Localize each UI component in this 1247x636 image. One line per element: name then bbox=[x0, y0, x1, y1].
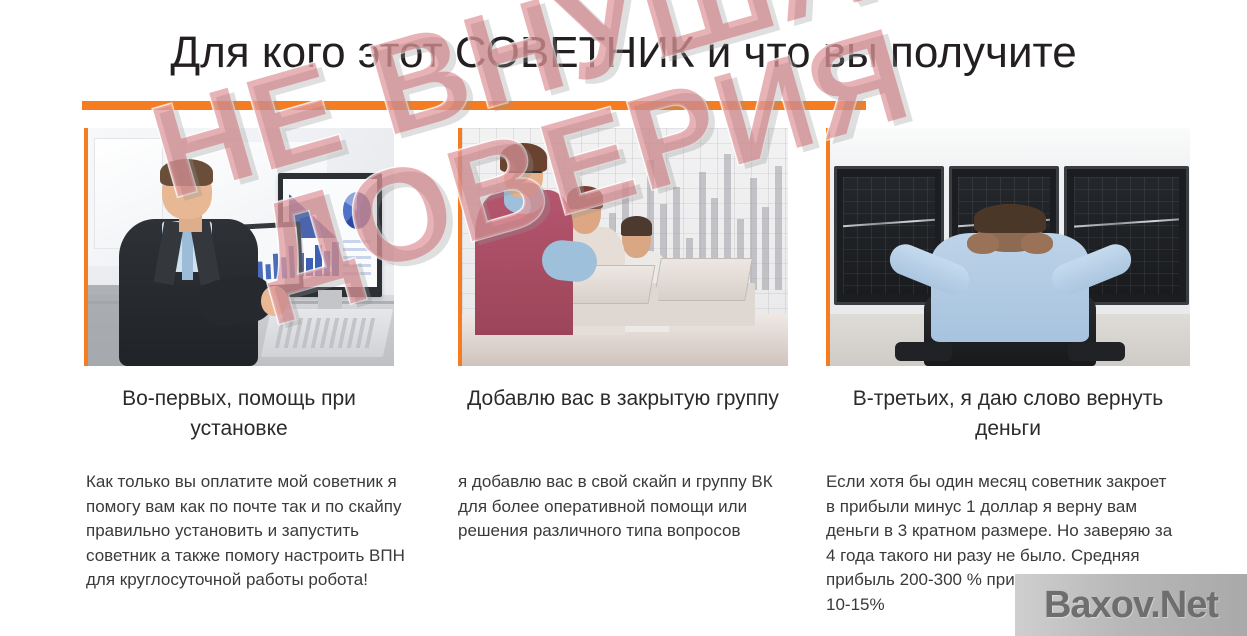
feature-caption-3: В-третьих, я даю слово вернуть деньги bbox=[826, 384, 1190, 444]
feature-body-2: я добавлю вас в свой скайп и группу ВК д… bbox=[458, 470, 802, 544]
orange-accent-bar-3 bbox=[826, 128, 830, 366]
orange-accent-bar-1 bbox=[84, 128, 88, 366]
photo-canvas-2 bbox=[462, 128, 788, 366]
orange-accent-bar-2 bbox=[458, 128, 462, 366]
feature-caption-1: Во-первых, помощь при установке bbox=[84, 384, 394, 444]
feature-column-2: Добавлю вас в закрытую группу bbox=[458, 128, 818, 414]
feature-column-3: В-третьих, я даю слово вернуть деньги bbox=[826, 128, 1190, 444]
glasses-icon bbox=[508, 171, 541, 182]
feature-caption-2: Добавлю вас в закрытую группу bbox=[458, 384, 788, 414]
title-underline-rule bbox=[82, 101, 866, 110]
photo-canvas-1 bbox=[88, 128, 394, 366]
person-figure bbox=[112, 157, 277, 366]
photo-canvas-3 bbox=[830, 128, 1190, 366]
feature-image-3 bbox=[826, 128, 1190, 366]
laptop-icon-far bbox=[651, 283, 755, 326]
page-title: Для кого этот СОВЕТНИК и что вы получите bbox=[0, 26, 1247, 80]
feature-column-1: Во-первых, помощь при установке bbox=[84, 128, 448, 444]
site-logo: Baxov.Net bbox=[1015, 574, 1247, 636]
person-figure-front bbox=[475, 147, 573, 328]
laptop-icon-near bbox=[560, 287, 658, 325]
site-logo-text: Baxov.Net bbox=[1044, 584, 1218, 627]
feature-body-1: Как только вы оплатите мой советник я по… bbox=[86, 470, 432, 593]
slide-root: Для кого этот СОВЕТНИК и что вы получите bbox=[0, 0, 1247, 636]
feature-image-2 bbox=[458, 128, 788, 366]
laptop-icon bbox=[260, 309, 393, 357]
feature-image-1 bbox=[84, 128, 394, 366]
